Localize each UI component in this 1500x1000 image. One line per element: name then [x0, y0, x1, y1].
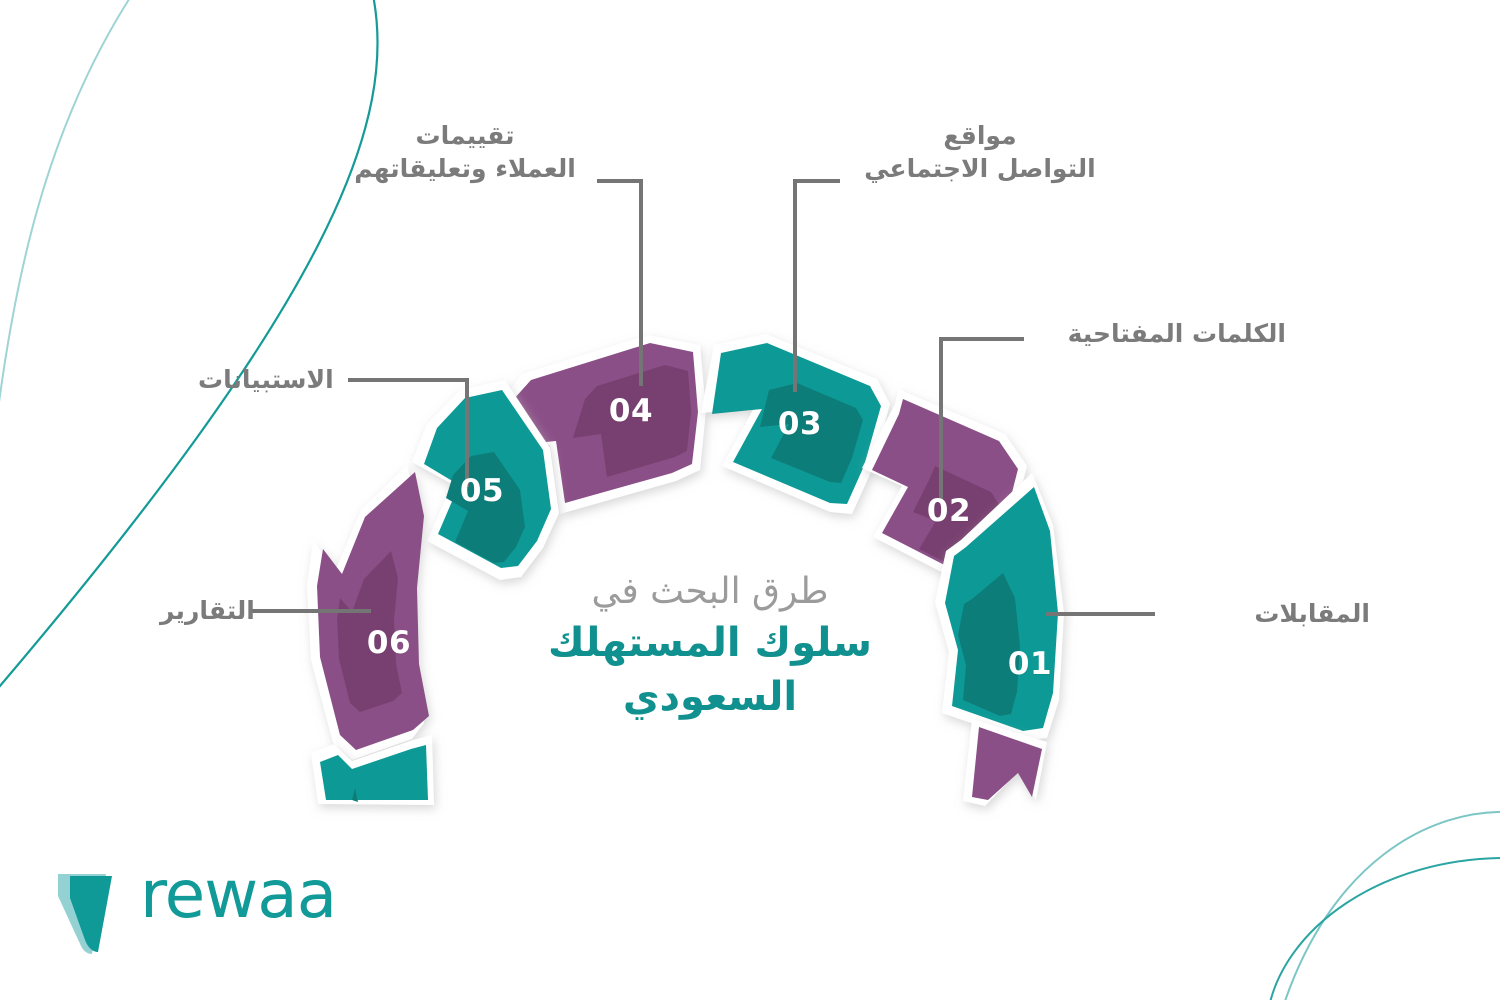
segment-label-03[interactable]: مواقع التواصل الاجتماعي: [856, 119, 1104, 185]
segment-number-02: 02: [927, 493, 971, 529]
segment-label-01[interactable]: المقابلات: [1170, 597, 1370, 630]
brand-logo[interactable]: rewaa: [48, 868, 328, 950]
segment-label-02[interactable]: الكلمات المفتاحية: [1000, 317, 1286, 350]
segment-number-01: 01: [1008, 646, 1052, 682]
logo-wordmark: rewaa: [140, 862, 336, 928]
segment-label-05[interactable]: الاستبيانات: [198, 363, 348, 396]
center-title-line2: سلوك المستهلك: [480, 618, 940, 668]
center-title-line1: طرق البحث في: [480, 570, 940, 614]
segment-number-03: 03: [778, 406, 822, 442]
process-ring: [0, 0, 1500, 1000]
segment-number-04: 04: [609, 393, 653, 429]
center-title: طرق البحث في سلوك المستهلك السعودي: [480, 570, 940, 722]
center-title-line3: السعودي: [480, 672, 940, 722]
segment-number-06: 06: [367, 625, 411, 661]
segment-number-05: 05: [460, 473, 504, 509]
segment-label-04[interactable]: تقييمات العملاء وتعليقاتهم: [341, 119, 589, 185]
infographic-canvas: 01 02 03 04 05 06 المقابلات الكلمات المف…: [0, 0, 1500, 1000]
droplet-triangle-icon: [48, 868, 140, 956]
segment-label-06[interactable]: التقارير: [160, 594, 270, 627]
